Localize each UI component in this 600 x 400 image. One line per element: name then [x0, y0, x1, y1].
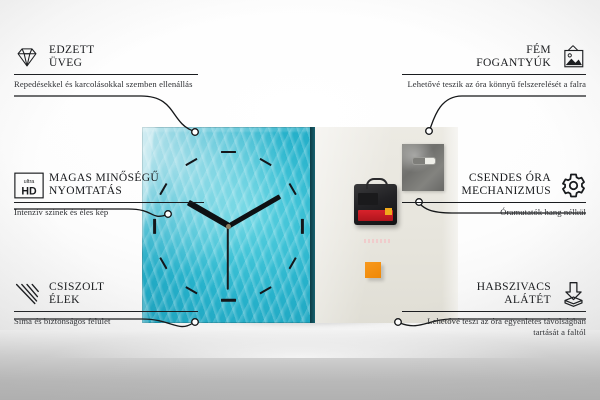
divider — [402, 202, 586, 203]
feature-high-quality-print[interactable]: ultra HD MAGAS MINŐSÉGŰ NYOMTATÁS Intenz… — [14, 172, 204, 218]
feature-foam-pad[interactable]: HABSZIVACS ALÁTÉT Lehetővé teszi az óra … — [402, 281, 586, 338]
divider — [402, 311, 586, 312]
clock-tick — [301, 218, 304, 233]
hanger-slot — [412, 157, 436, 165]
feature-description: Óramutatók hang nélkül — [402, 207, 586, 218]
clock-second-hand — [227, 226, 229, 290]
feature-tempered-glass[interactable]: EDZETT ÜVEG Repedésekkel és karcolásokka… — [14, 44, 198, 90]
feature-title: HABSZIVACS ALÁTÉT — [477, 281, 551, 307]
feature-title: CSENDES ÓRA MECHANIZMUS — [462, 172, 551, 198]
clock-tick — [221, 151, 236, 154]
feature-head: ultra HD MAGAS MINŐSÉGŰ NYOMTATÁS — [14, 172, 204, 198]
feature-description: Sima és biztonságos felület — [14, 316, 198, 327]
feature-description: Lehetővé teszi az óra egyenletes távolsá… — [402, 316, 586, 338]
battery-terminal — [385, 208, 392, 215]
feature-head: HABSZIVACS ALÁTÉT — [402, 281, 586, 307]
feature-metal-handles[interactable]: FÉM FOGANTYÚK Lehetővé teszik az óra kön… — [402, 44, 586, 90]
feature-polished-edges[interactable]: CSISZOLT ÉLEK Sima és biztonságos felüle… — [14, 281, 198, 327]
leader-line-metal-handles — [430, 96, 586, 129]
battery-label — [364, 239, 390, 243]
foam-pad — [365, 262, 381, 278]
feature-title: EDZETT ÜVEG — [49, 44, 95, 70]
feature-silent-mechanism[interactable]: CSENDES ÓRA MECHANIZMUS Óramutatók hang … — [402, 172, 586, 218]
mechanism-hook — [366, 178, 388, 189]
diamond-icon — [14, 44, 40, 70]
svg-text:HD: HD — [21, 185, 37, 197]
infographic-canvas: EDZETT ÜVEG Repedésekkel és karcolásokka… — [0, 0, 600, 400]
polished-edges-icon — [14, 281, 40, 307]
feature-head: CSISZOLT ÉLEK — [14, 281, 198, 307]
clock-tick — [153, 218, 156, 233]
divider — [14, 311, 198, 312]
gear-icon — [560, 172, 586, 198]
divider — [402, 74, 586, 75]
feature-title: CSISZOLT ÉLEK — [49, 281, 104, 307]
feature-description: Intenzív színek és éles kép — [14, 207, 204, 218]
feature-description: Lehetővé teszik az óra könnyű felszerelé… — [402, 79, 586, 90]
feature-title: MAGAS MINŐSÉGŰ NYOMTATÁS — [49, 172, 159, 198]
mechanism-vent — [358, 193, 378, 205]
ultra-hd-icon: ultra HD — [14, 172, 40, 198]
press-pad-icon — [560, 281, 586, 307]
leader-line-tempered-glass — [14, 96, 193, 131]
feature-head: FÉM FOGANTYÚK — [402, 44, 586, 70]
divider — [14, 74, 198, 75]
feature-description: Repedésekkel és karcolásokkal szemben el… — [14, 79, 198, 90]
clock-tick — [221, 299, 236, 302]
framed-picture-hook-icon — [560, 44, 586, 70]
divider — [14, 202, 204, 203]
svg-text:ultra: ultra — [24, 179, 36, 185]
clock-mechanism-box — [354, 184, 397, 225]
feature-head: EDZETT ÜVEG — [14, 44, 198, 70]
clock-center-cap — [226, 224, 231, 229]
feature-title: FÉM FOGANTYÚK — [476, 44, 551, 70]
feature-head: CSENDES ÓRA MECHANIZMUS — [402, 172, 586, 198]
